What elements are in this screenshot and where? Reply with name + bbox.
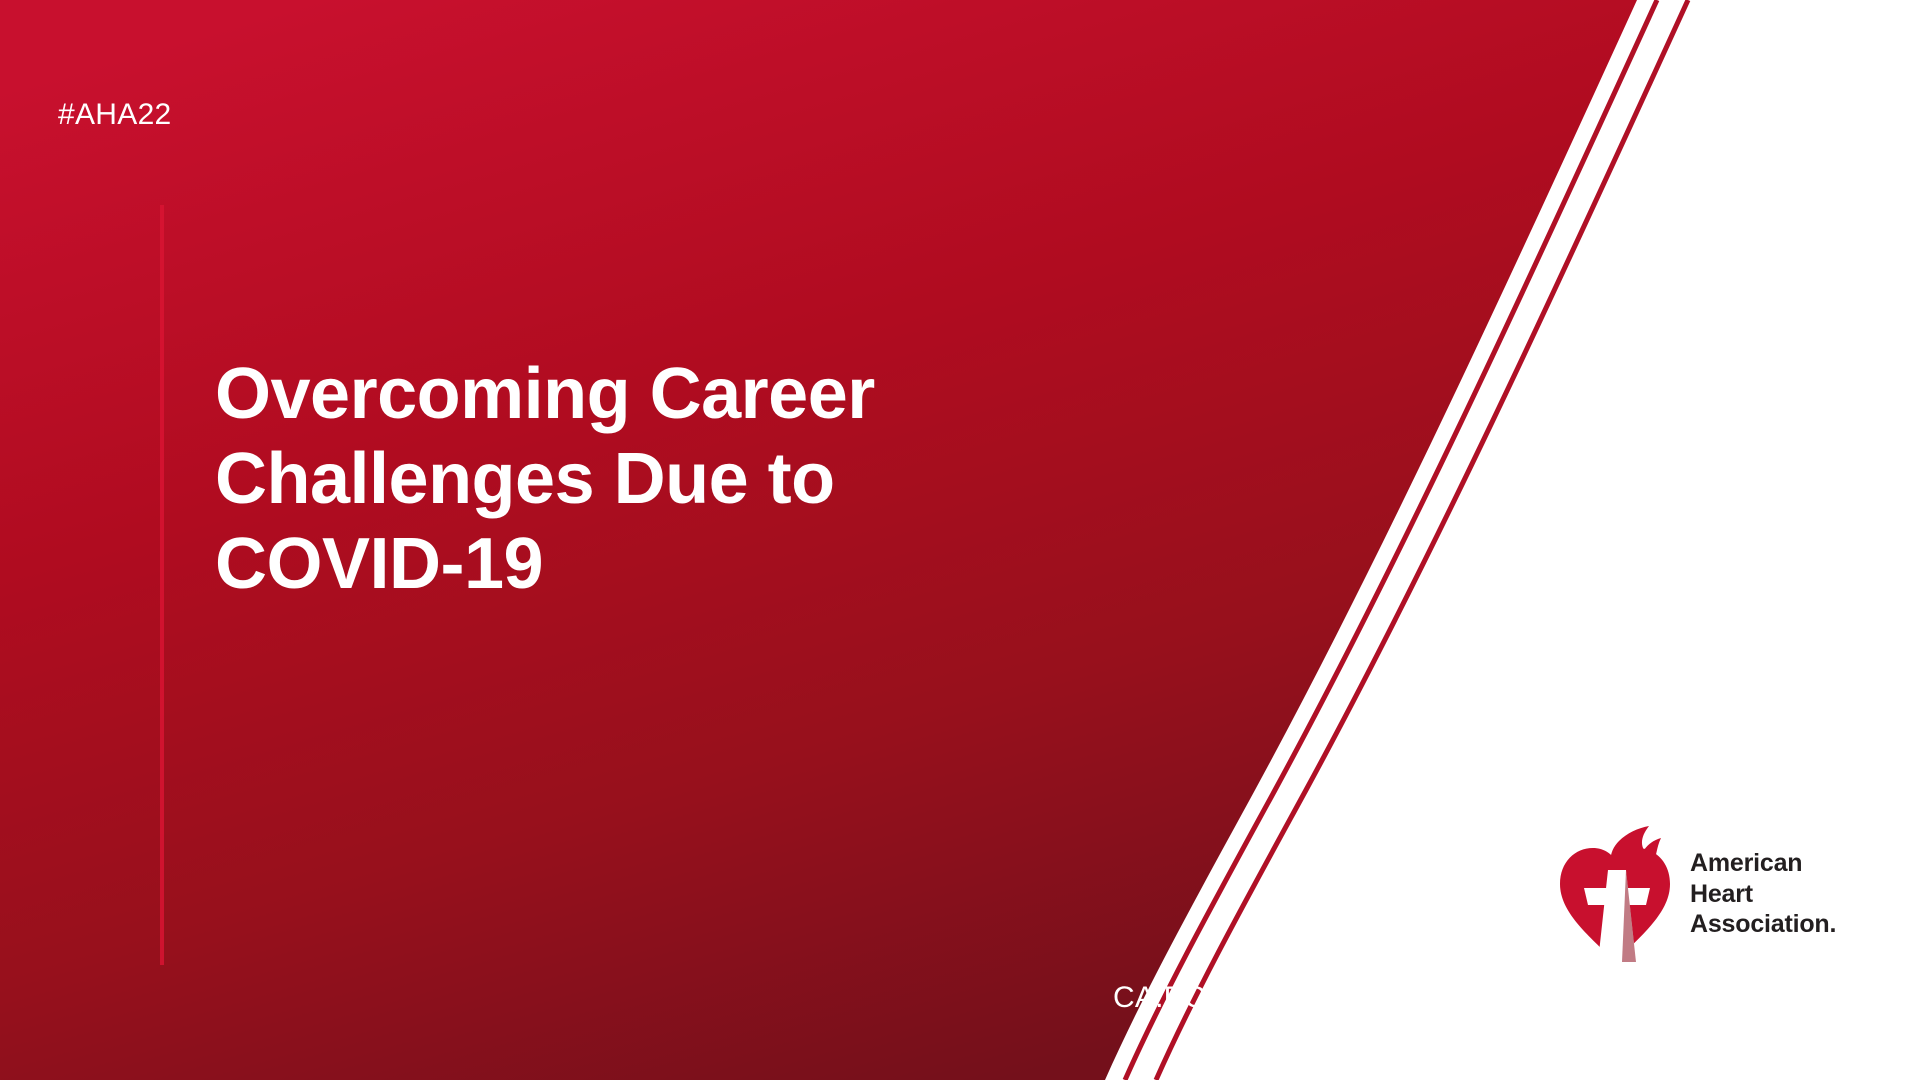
- aha-wordmark: American Heart Association.: [1690, 848, 1836, 940]
- wordmark-line-1: American: [1690, 848, 1836, 879]
- title-line-2: Challenges Due to: [215, 437, 1115, 522]
- wordmark-line-3: Association.: [1690, 909, 1836, 940]
- title-line-3: COVID-19: [215, 522, 1115, 607]
- wordmark-line-2: Heart: [1690, 879, 1836, 910]
- title-line-1: Overcoming Career: [215, 352, 1115, 437]
- aha-heart-torch-icon: [1556, 826, 1674, 962]
- aha-logo: American Heart Association.: [1556, 824, 1856, 964]
- page-title: Overcoming Career Challenges Due to COVI…: [215, 352, 1115, 607]
- session-code: CA.EC.100: [1113, 983, 1265, 1013]
- vertical-accent-rule: [160, 205, 164, 965]
- event-hashtag: #AHA22: [58, 100, 172, 130]
- title-slide: #AHA22 Overcoming Career Challenges Due …: [0, 0, 1920, 1080]
